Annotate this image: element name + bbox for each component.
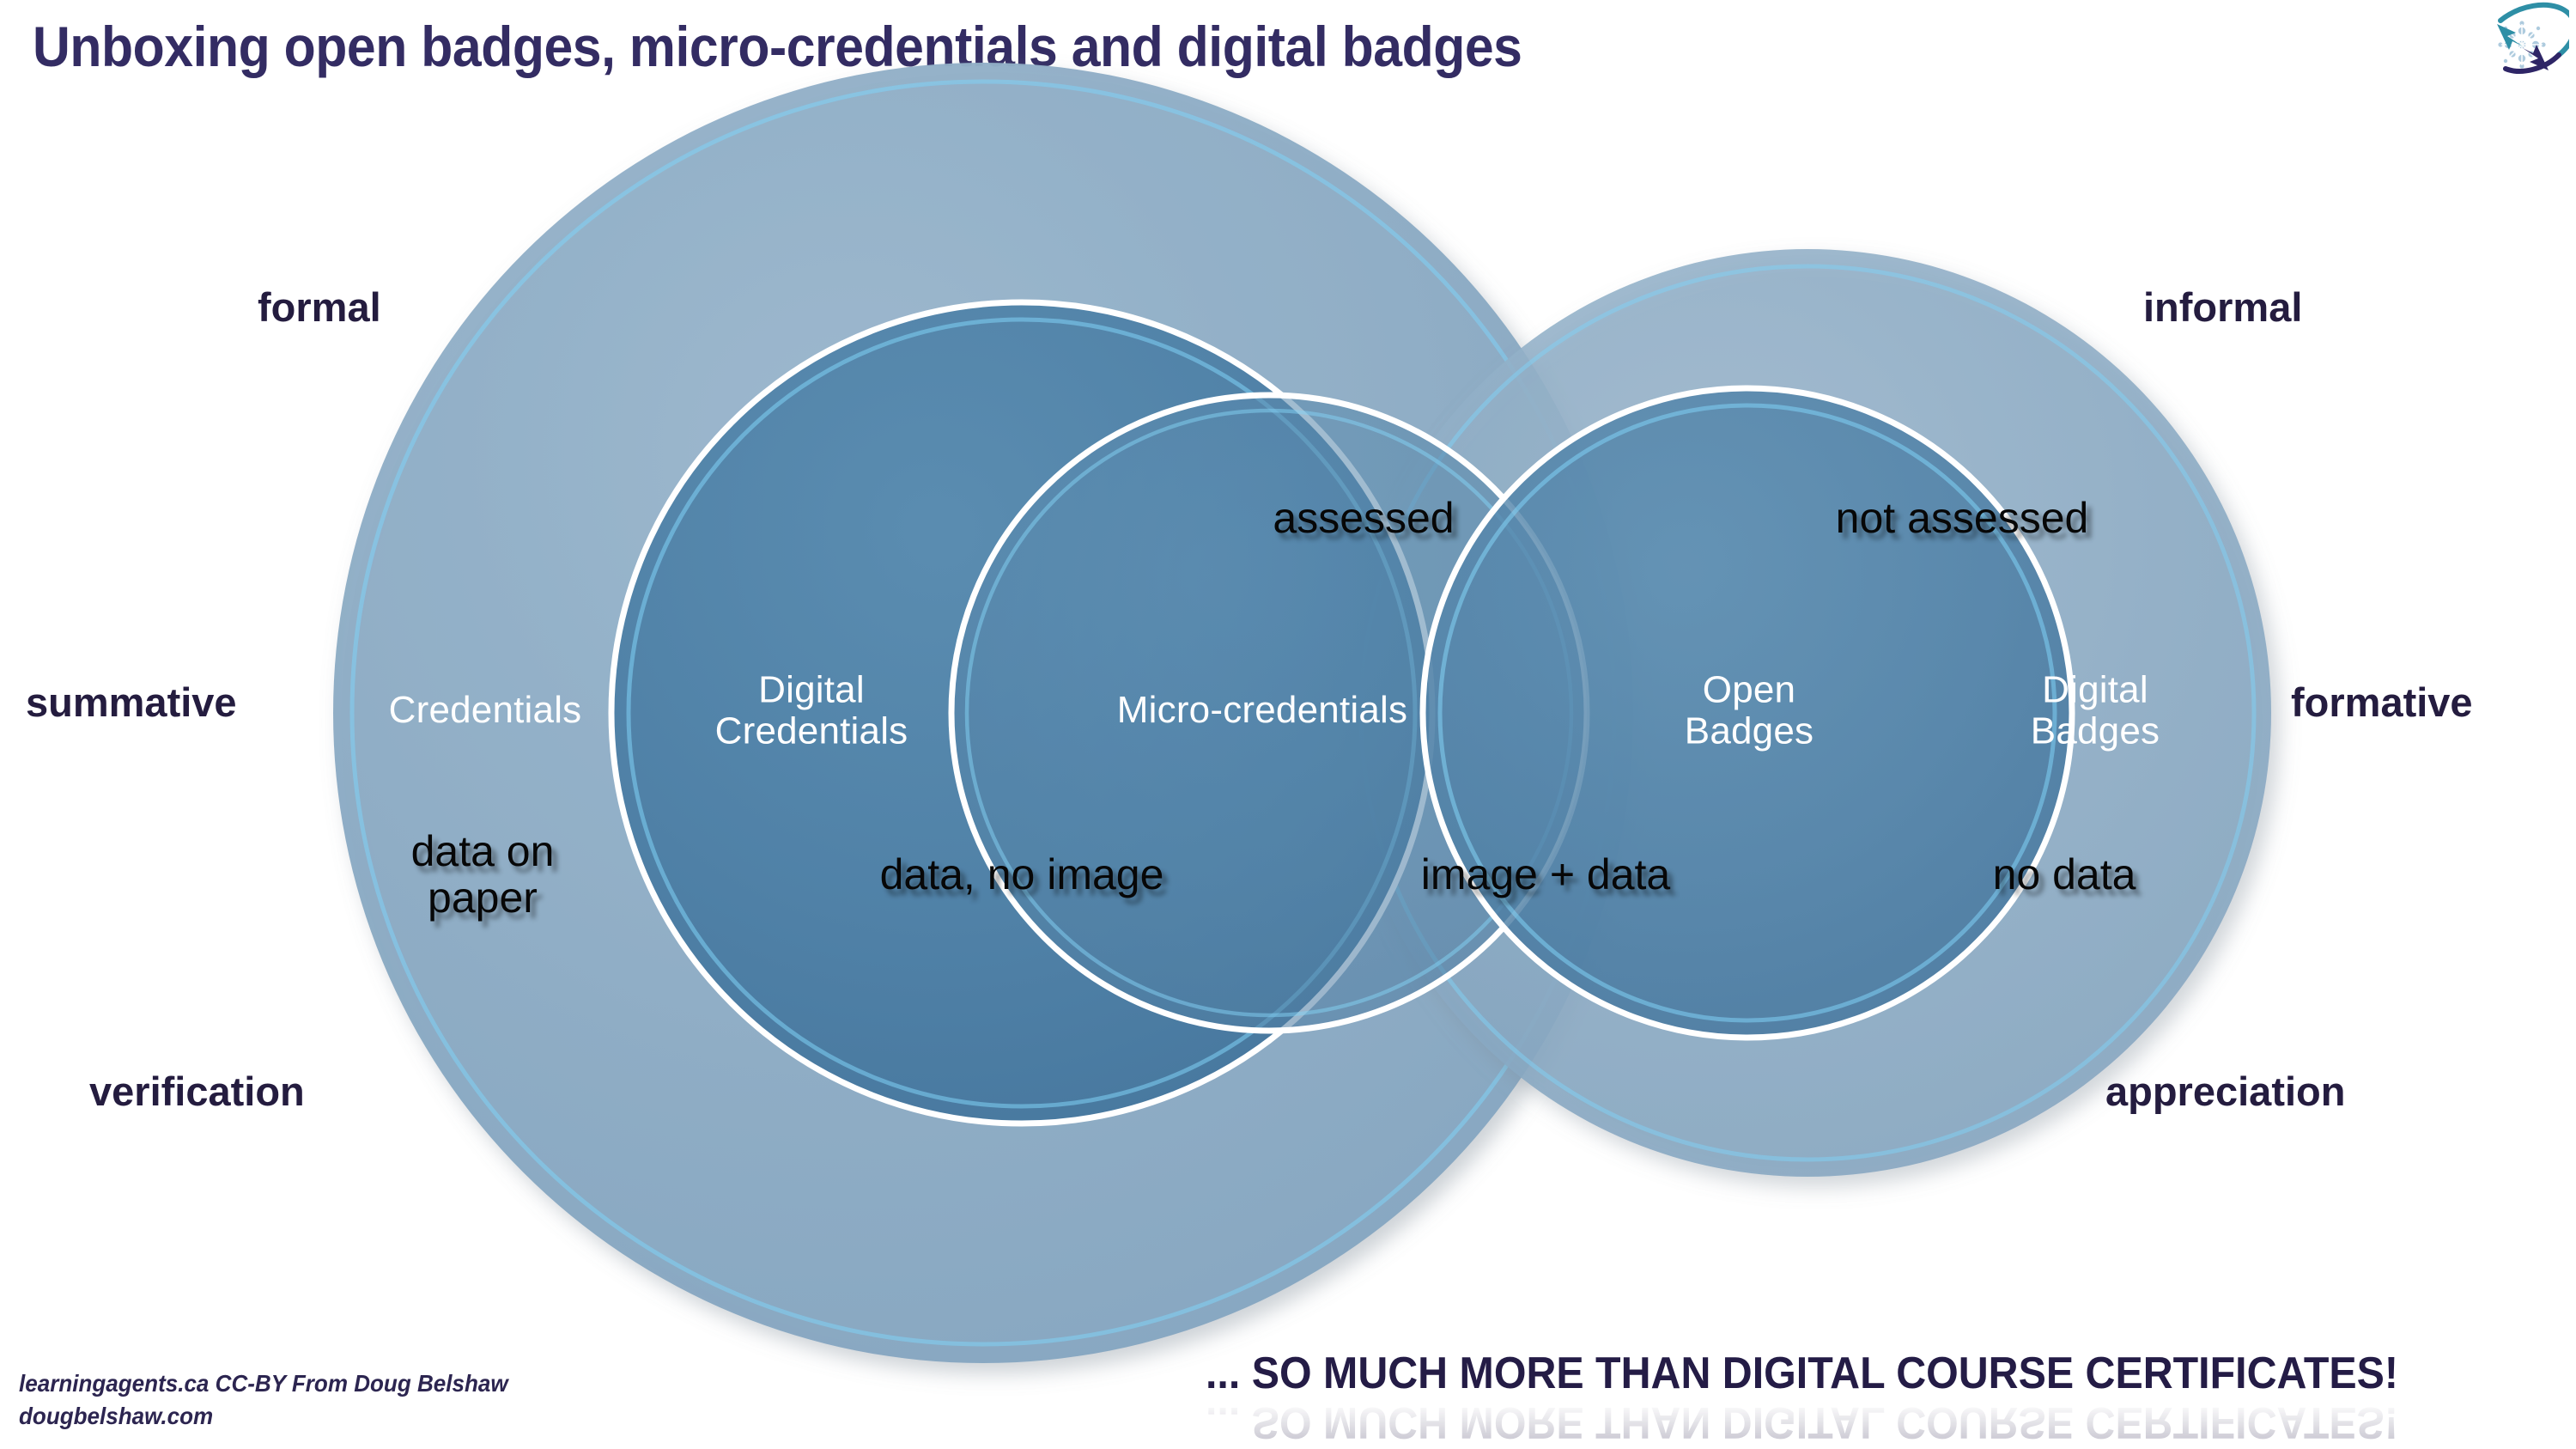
axis-label-formative: formative — [2291, 679, 2473, 726]
attribution-text: learningagents.ca CC-BY From Doug Belsha… — [19, 1367, 508, 1433]
region-label-micro-credentials: Micro-credentials — [1117, 690, 1407, 731]
region-label-credentials: Credentials — [389, 690, 582, 731]
attribute-label-no-data: no data — [1993, 851, 2136, 898]
attribute-label-assessed: assessed — [1273, 495, 1454, 541]
tagline-text: ... SO MUCH MORE THAN DIGITAL COURSE CER… — [1206, 1350, 2398, 1397]
axis-label-appreciation: appreciation — [2105, 1068, 2345, 1115]
axis-label-summative: summative — [26, 679, 237, 726]
attribute-label-image-plus-data: image + data — [1421, 851, 1670, 898]
axis-label-informal: informal — [2143, 283, 2302, 331]
attribute-label-data-on-paper: data on paper — [411, 828, 555, 921]
axis-label-formal: formal — [258, 283, 381, 331]
attribute-label-not-assessed: not assessed — [1836, 495, 2089, 541]
tagline-block: ... SO MUCH MORE THAN DIGITAL COURSE CER… — [1206, 1350, 2488, 1449]
region-label-digital-badges: Digital Badges — [2031, 669, 2160, 751]
tagline-reflection: ... SO MUCH MORE THAN DIGITAL COURSE CER… — [1206, 1398, 2398, 1446]
axis-label-verification: verification — [89, 1068, 305, 1115]
region-label-open-badges: Open Badges — [1685, 669, 1814, 751]
region-label-digital-credentials: Digital Credentials — [715, 669, 908, 751]
attribute-label-data-no-image: data, no image — [880, 851, 1164, 898]
